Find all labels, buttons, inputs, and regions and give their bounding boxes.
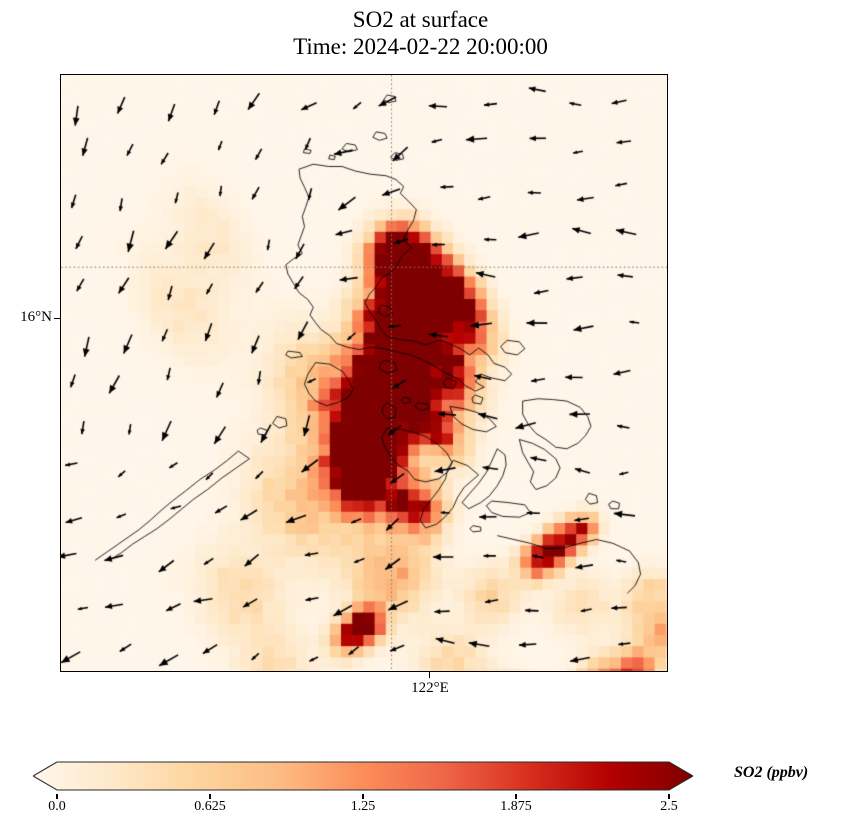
colorbar-tick-label: 0.625 bbox=[194, 799, 226, 815]
colorbar-tick-group: 0.00.6251.251.8752.5 bbox=[0, 794, 841, 818]
x-axis-tick-label: 122°E bbox=[395, 680, 465, 697]
colorbar-gradient bbox=[33, 758, 693, 794]
map-axes[interactable] bbox=[60, 74, 668, 672]
x-axis-tick-mark bbox=[429, 672, 430, 678]
so2-heatmap-canvas bbox=[61, 75, 667, 671]
colorbar-tick-label: 0.0 bbox=[48, 799, 66, 815]
title-timestamp: Time: 2024-02-22 20:00:00 bbox=[0, 33, 841, 60]
colorbar-tick-label: 1.25 bbox=[351, 799, 376, 815]
title-primary: SO2 at surface bbox=[0, 6, 841, 33]
y-axis-tick-label: 16°N bbox=[8, 309, 52, 326]
figure-title: SO2 at surface Time: 2024-02-22 20:00:00 bbox=[0, 6, 841, 60]
figure-canvas: SO2 at surface Time: 2024-02-22 20:00:00… bbox=[0, 0, 841, 836]
y-axis-tick-mark bbox=[54, 318, 60, 319]
colorbar-label: SO2 (ppbv) bbox=[734, 764, 808, 782]
colorbar-tick-label: 2.5 bbox=[660, 799, 678, 815]
colorbar[interactable] bbox=[33, 758, 693, 794]
colorbar-tick-label: 1.875 bbox=[500, 799, 532, 815]
